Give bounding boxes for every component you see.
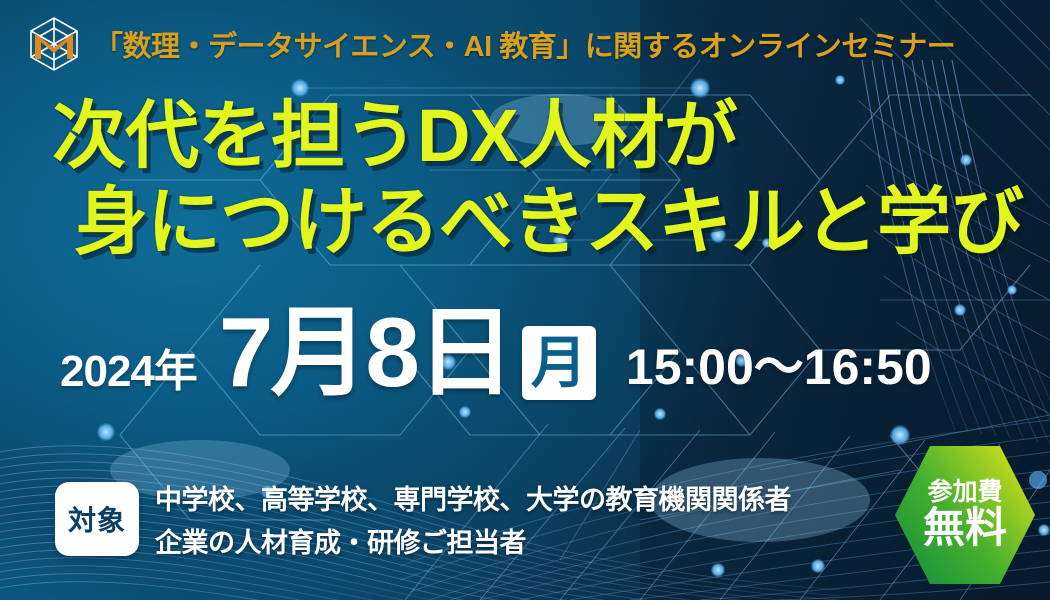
audience-lines: 中学校、高等学校、専門学校、大学の教育機関関係者 企業の人材育成・研修ご担当者 xyxy=(155,478,791,560)
hexagon-cube-m-logo-icon xyxy=(26,15,82,73)
event-year: 2024年 xyxy=(60,335,197,399)
fee-large-label: 無料 xyxy=(923,506,1007,550)
audience-section: 対象 中学校、高等学校、専門学校、大学の教育機関関係者 企業の人材育成・研修ご担… xyxy=(55,478,791,560)
event-day-of-week: 月 xyxy=(522,326,596,400)
event-month-day: 7月8日 xyxy=(219,306,512,398)
fee-small-label: 参加費 xyxy=(927,480,1002,505)
audience-badge: 対象 xyxy=(55,482,139,556)
audience-line-2: 企業の人材育成・研修ご担当者 xyxy=(155,521,791,560)
event-date-row: 2024年 7月8日 月 15:00〜16:50 xyxy=(60,306,932,404)
title-line-1: 次代を担うDX人材が xyxy=(52,96,1023,176)
main-title: 次代を担うDX人材が 身につけるべきスキルと学び xyxy=(52,96,1023,262)
title-line-2: 身につけるべきスキルと学び xyxy=(52,182,1023,262)
seminar-banner: 「数理・データサイエンス・AI 教育」に関するオンラインセミナー 次代を担うDX… xyxy=(0,0,1050,600)
header-title: 「数理・データサイエンス・AI 教育」に関するオンラインセミナー xyxy=(94,23,955,65)
audience-line-1: 中学校、高等学校、専門学校、大学の教育機関関係者 xyxy=(155,478,791,517)
fee-badge: 参加費 無料 xyxy=(895,440,1035,590)
event-time: 15:00〜16:50 xyxy=(626,327,932,399)
fee-badge-text: 参加費 無料 xyxy=(895,440,1035,590)
banner-header: 「数理・データサイエンス・AI 教育」に関するオンラインセミナー xyxy=(26,18,955,70)
